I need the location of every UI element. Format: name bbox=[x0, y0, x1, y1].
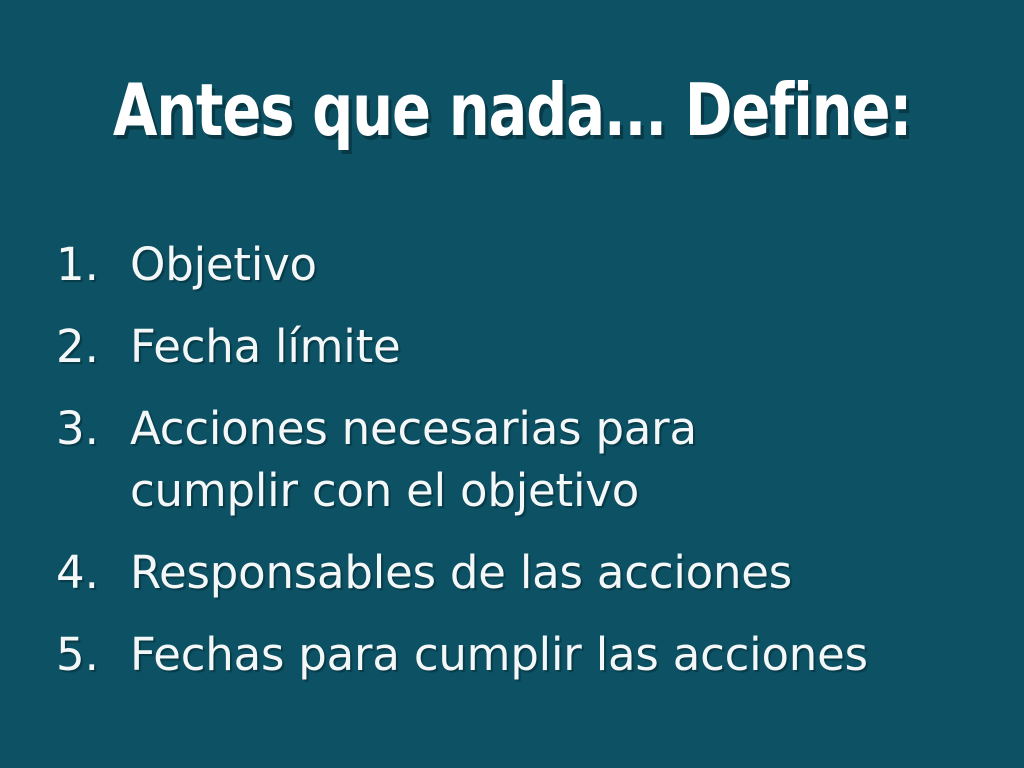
list-item-line: cumplir con el objetivo bbox=[130, 460, 976, 522]
list-item-marker: 4. bbox=[56, 542, 130, 604]
list-item: 1. Objetivo bbox=[56, 234, 976, 296]
list-item-line: Objetivo bbox=[130, 234, 976, 296]
list-item-text: Fecha límite bbox=[130, 316, 976, 378]
list-item: 4. Responsables de las acciones bbox=[56, 542, 976, 604]
list-item-marker: 5. bbox=[56, 624, 130, 686]
list-item-line: Acciones necesarias para bbox=[130, 398, 976, 460]
definition-list: 1. Objetivo 2. Fecha límite 3. Acciones … bbox=[56, 234, 976, 706]
slide-title: Antes que nada... Define: bbox=[102, 72, 921, 150]
list-item-text: Responsables de las acciones bbox=[130, 542, 976, 604]
list-item-line: Fechas para cumplir las acciones bbox=[130, 624, 976, 686]
list-item: 3. Acciones necesarias para cumplir con … bbox=[56, 398, 976, 522]
list-item-text: Objetivo bbox=[130, 234, 976, 296]
list-item-marker: 2. bbox=[56, 316, 130, 378]
presentation-slide: Antes que nada... Define: 1. Objetivo 2.… bbox=[0, 0, 1024, 768]
list-item-text: Acciones necesarias para cumplir con el … bbox=[130, 398, 976, 522]
list-item: 5. Fechas para cumplir las acciones bbox=[56, 624, 976, 686]
list-item: 2. Fecha límite bbox=[56, 316, 976, 378]
list-item-line: Responsables de las acciones bbox=[130, 542, 976, 604]
list-item-line: Fecha límite bbox=[130, 316, 976, 378]
list-item-marker: 1. bbox=[56, 234, 130, 296]
list-item-text: Fechas para cumplir las acciones bbox=[130, 624, 976, 686]
list-item-marker: 3. bbox=[56, 398, 130, 460]
